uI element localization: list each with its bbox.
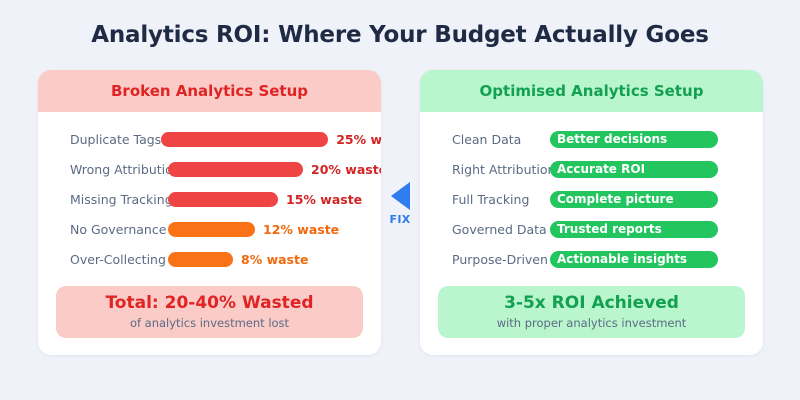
table-row: Missing Tracking 15% waste (38, 184, 381, 214)
row-label: Over-Collecting (38, 252, 168, 267)
waste-value: 20% waste (311, 162, 381, 177)
table-row: Purpose-Driven Actionable insights (420, 244, 763, 274)
optimised-summary-subtitle: with proper analytics investment (497, 316, 687, 330)
benefit-pill: Accurate ROI (550, 161, 718, 178)
row-label: Full Tracking (420, 192, 550, 207)
row-label: Right Attribution (420, 162, 550, 177)
optimised-summary-title: 3-5x ROI Achieved (504, 294, 679, 313)
bar-wrap: 15% waste (168, 184, 381, 214)
waste-value: 25% waste (336, 132, 381, 147)
bar-wrap: 20% waste (168, 154, 381, 184)
waste-bar (168, 162, 303, 177)
waste-value: 15% waste (286, 192, 362, 207)
fix-marker: FIX (382, 182, 418, 226)
broken-rows-list: Duplicate Tags 25% waste Wrong Attributi… (38, 112, 381, 274)
optimised-analytics-panel: Optimised Analytics Setup Clean Data Bet… (420, 70, 763, 355)
broken-summary-title: Total: 20-40% Wasted (105, 294, 313, 313)
waste-bar (168, 222, 255, 237)
waste-bar (168, 192, 278, 207)
row-label: Duplicate Tags (38, 132, 161, 147)
row-label: Governed Data (420, 222, 550, 237)
row-label: Missing Tracking (38, 192, 168, 207)
bar-wrap: Complete picture (550, 184, 763, 214)
benefit-pill: Better decisions (550, 131, 718, 148)
optimised-rows-list: Clean Data Better decisions Right Attrib… (420, 112, 763, 274)
arrow-left-icon (391, 182, 410, 210)
broken-panel-header: Broken Analytics Setup (38, 70, 381, 112)
table-row: Duplicate Tags 25% waste (38, 124, 381, 154)
table-row: Right Attribution Accurate ROI (420, 154, 763, 184)
benefit-pill: Complete picture (550, 191, 718, 208)
benefit-pill: Actionable insights (550, 251, 718, 268)
optimised-panel-header: Optimised Analytics Setup (420, 70, 763, 112)
benefit-pill: Trusted reports (550, 221, 718, 238)
waste-bar (168, 252, 233, 267)
table-row: Over-Collecting 8% waste (38, 244, 381, 274)
row-label: No Governance (38, 222, 168, 237)
table-row: Clean Data Better decisions (420, 124, 763, 154)
page-title: Analytics ROI: Where Your Budget Actuall… (0, 22, 800, 48)
bar-wrap: Actionable insights (550, 244, 763, 274)
bar-wrap: 12% waste (168, 214, 381, 244)
waste-value: 8% waste (241, 252, 308, 267)
broken-analytics-panel: Broken Analytics Setup Duplicate Tags 25… (38, 70, 381, 355)
bar-wrap: Trusted reports (550, 214, 763, 244)
waste-bar (161, 132, 328, 147)
fix-label: FIX (382, 213, 418, 226)
table-row: Full Tracking Complete picture (420, 184, 763, 214)
broken-summary-subtitle: of analytics investment lost (130, 316, 289, 330)
row-label: Purpose-Driven (420, 252, 550, 267)
bar-wrap: Accurate ROI (550, 154, 763, 184)
table-row: Wrong Attribution 20% waste (38, 154, 381, 184)
broken-summary-box: Total: 20-40% Wasted of analytics invest… (56, 286, 363, 338)
optimised-summary-box: 3-5x ROI Achieved with proper analytics … (438, 286, 745, 338)
bar-wrap: 25% waste (161, 124, 381, 154)
waste-value: 12% waste (263, 222, 339, 237)
table-row: Governed Data Trusted reports (420, 214, 763, 244)
row-label: Clean Data (420, 132, 550, 147)
row-label: Wrong Attribution (38, 162, 168, 177)
bar-wrap: Better decisions (550, 124, 763, 154)
bar-wrap: 8% waste (168, 244, 381, 274)
table-row: No Governance 12% waste (38, 214, 381, 244)
